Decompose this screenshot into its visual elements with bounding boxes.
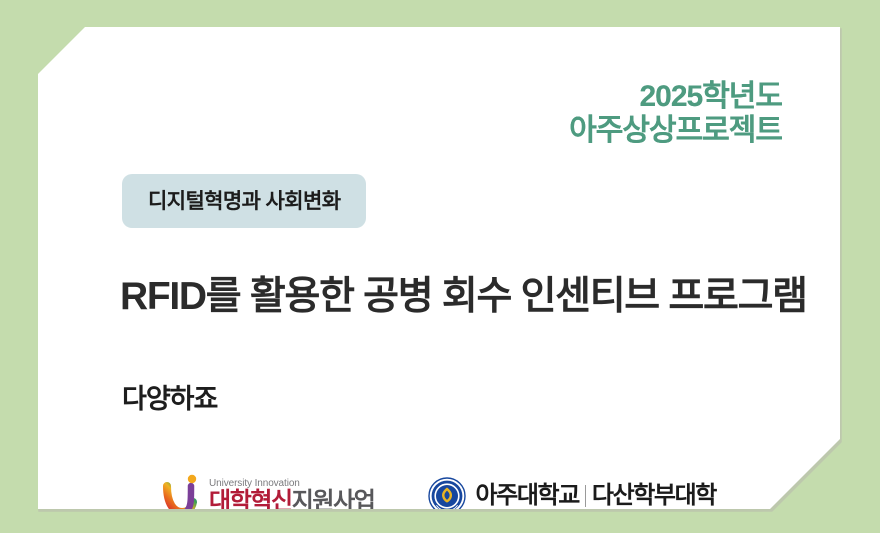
project-year-line2: 아주상상프로젝트: [569, 114, 782, 148]
ajou-university-name: 아주대학교: [475, 484, 578, 508]
project-year-line1: 2025학년도: [569, 80, 782, 114]
category-badge: 디지털혁명과 사회변화: [122, 174, 366, 228]
ajou-college-name: 다산학부대학: [592, 484, 716, 508]
white-content-card: 2025학년도 아주상상프로젝트 디지털혁명과 사회변화 RFID를 활용한 공…: [38, 27, 840, 509]
page-title: RFID를 활용한 공병 회수 인센티브 프로그램: [120, 273, 780, 322]
project-year-heading: 2025학년도 아주상상프로젝트: [569, 80, 782, 148]
university-innovation-logo-text: University Innovation 대학혁신지원사업: [209, 479, 374, 514]
team-name: 다양하죠: [122, 377, 217, 416]
ajou-logo-divider: [585, 485, 586, 507]
presentation-slide: 2025학년도 아주상상프로젝트 디지털혁명과 사회변화 RFID를 활용한 공…: [0, 0, 880, 533]
ajou-university-logo-text: 아주대학교 다산학부대학: [475, 484, 716, 508]
